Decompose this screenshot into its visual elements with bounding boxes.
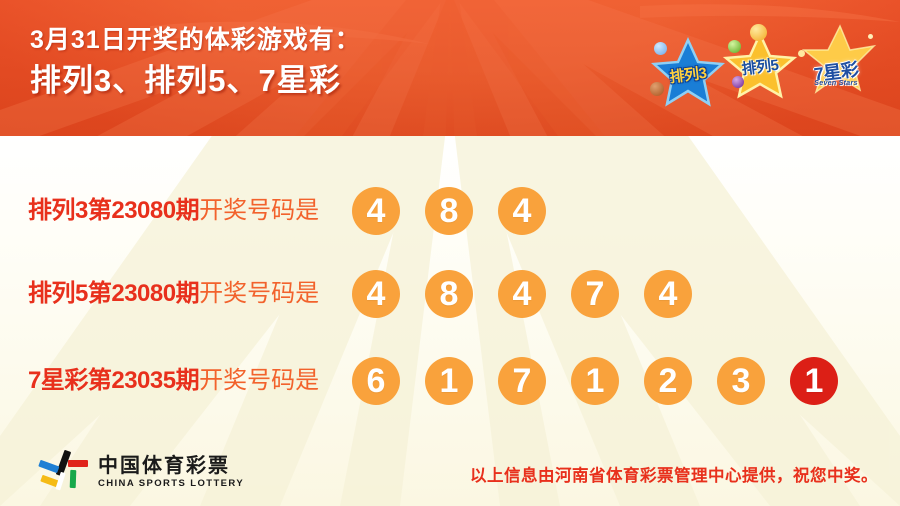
result-row-suffix: 开奖号码是 xyxy=(199,367,319,394)
number-ball: 8 xyxy=(425,187,473,235)
result-row-game-issue: 7星彩第23035期 xyxy=(28,367,199,394)
ball-dot-green xyxy=(728,40,741,53)
results-list: 排列3第23080期开奖号码是 4 8 4 排列5第23080期开奖号码是 4 … xyxy=(0,136,900,426)
result-row-game-issue: 排列3第23080期 xyxy=(28,197,199,224)
game-logo-pailie3[interactable]: 排列3 xyxy=(650,34,726,110)
result-row-suffix: 开奖号码是 xyxy=(199,280,319,307)
result-row-label: 排列3第23080期开奖号码是 xyxy=(0,196,352,226)
result-row-suffix: 开奖号码是 xyxy=(199,197,319,224)
result-row: 排列5第23080期开奖号码是 4 8 4 7 4 xyxy=(0,261,900,327)
number-ball: 4 xyxy=(644,270,692,318)
game-logo-sublabel: Seven Stars xyxy=(794,80,878,87)
number-ball: 4 xyxy=(498,270,546,318)
header-title-block: 3月31日开奖的体彩游戏有： 排列3、排列5、7星彩 xyxy=(30,24,361,102)
number-ball: 4 xyxy=(352,270,400,318)
number-ball: 6 xyxy=(352,357,400,405)
number-ball: 2 xyxy=(644,357,692,405)
brand-name-en: CHINA SPORTS LOTTERY xyxy=(98,477,244,490)
ball-dot-yellow xyxy=(750,24,767,41)
number-ball: 1 xyxy=(425,357,473,405)
sparkle-dot xyxy=(798,50,805,57)
number-ball: 3 xyxy=(717,357,765,405)
lottery-result-banner: 3月31日开奖的体彩游戏有： 排列3、排列5、7星彩 排列3 xyxy=(0,0,900,506)
number-ball: 7 xyxy=(571,270,619,318)
result-row: 7星彩第23035期开奖号码是 6 1 7 1 2 3 1 xyxy=(0,348,900,414)
number-ball: 8 xyxy=(425,270,473,318)
brand-name-cn: 中国体育彩票 xyxy=(98,455,244,477)
brand-block: 中国体育彩票 CHINA SPORTS LOTTERY xyxy=(38,448,244,496)
gold-star-icon: 7星彩 Seven Stars xyxy=(794,24,878,100)
sparkle-dot xyxy=(868,34,873,39)
result-numbers: 6 1 7 1 2 3 1 xyxy=(352,357,838,405)
result-row-label: 7星彩第23035期开奖号码是 xyxy=(0,366,352,396)
blue-star-icon: 排列3 xyxy=(650,34,726,110)
footer: 中国体育彩票 CHINA SPORTS LOTTERY 以上信息由河南省体育彩票… xyxy=(0,440,900,506)
number-ball: 1 xyxy=(571,357,619,405)
result-row: 排列3第23080期开奖号码是 4 8 4 xyxy=(0,178,900,244)
result-row-label: 排列5第23080期开奖号码是 xyxy=(0,279,352,309)
china-sports-lottery-logo-icon xyxy=(38,448,90,496)
game-logo-pailie5[interactable]: 排列5 xyxy=(722,26,798,102)
yellow-star-icon: 排列5 xyxy=(722,26,798,102)
game-logo-group: 排列3 排列5 xyxy=(642,22,882,114)
result-row-game-issue: 排列5第23080期 xyxy=(28,280,199,307)
ball-dot-blue xyxy=(654,42,667,55)
result-numbers: 4 8 4 7 4 xyxy=(352,270,692,318)
footer-disclaimer: 以上信息由河南省体育彩票管理中心提供，祝您中奖。 xyxy=(470,462,878,486)
brand-text: 中国体育彩票 CHINA SPORTS LOTTERY xyxy=(98,455,244,490)
header-banner: 3月31日开奖的体彩游戏有： 排列3、排列5、7星彩 排列3 xyxy=(0,0,900,136)
header-title-line2: 排列3、排列5、7星彩 xyxy=(30,60,361,102)
number-ball: 4 xyxy=(498,187,546,235)
special-number-ball: 1 xyxy=(790,357,838,405)
header-title-line1: 3月31日开奖的体彩游戏有： xyxy=(30,24,361,56)
number-ball: 4 xyxy=(352,187,400,235)
number-ball: 7 xyxy=(498,357,546,405)
result-numbers: 4 8 4 xyxy=(352,187,546,235)
game-logo-sevenstars[interactable]: 7星彩 Seven Stars xyxy=(794,24,878,100)
